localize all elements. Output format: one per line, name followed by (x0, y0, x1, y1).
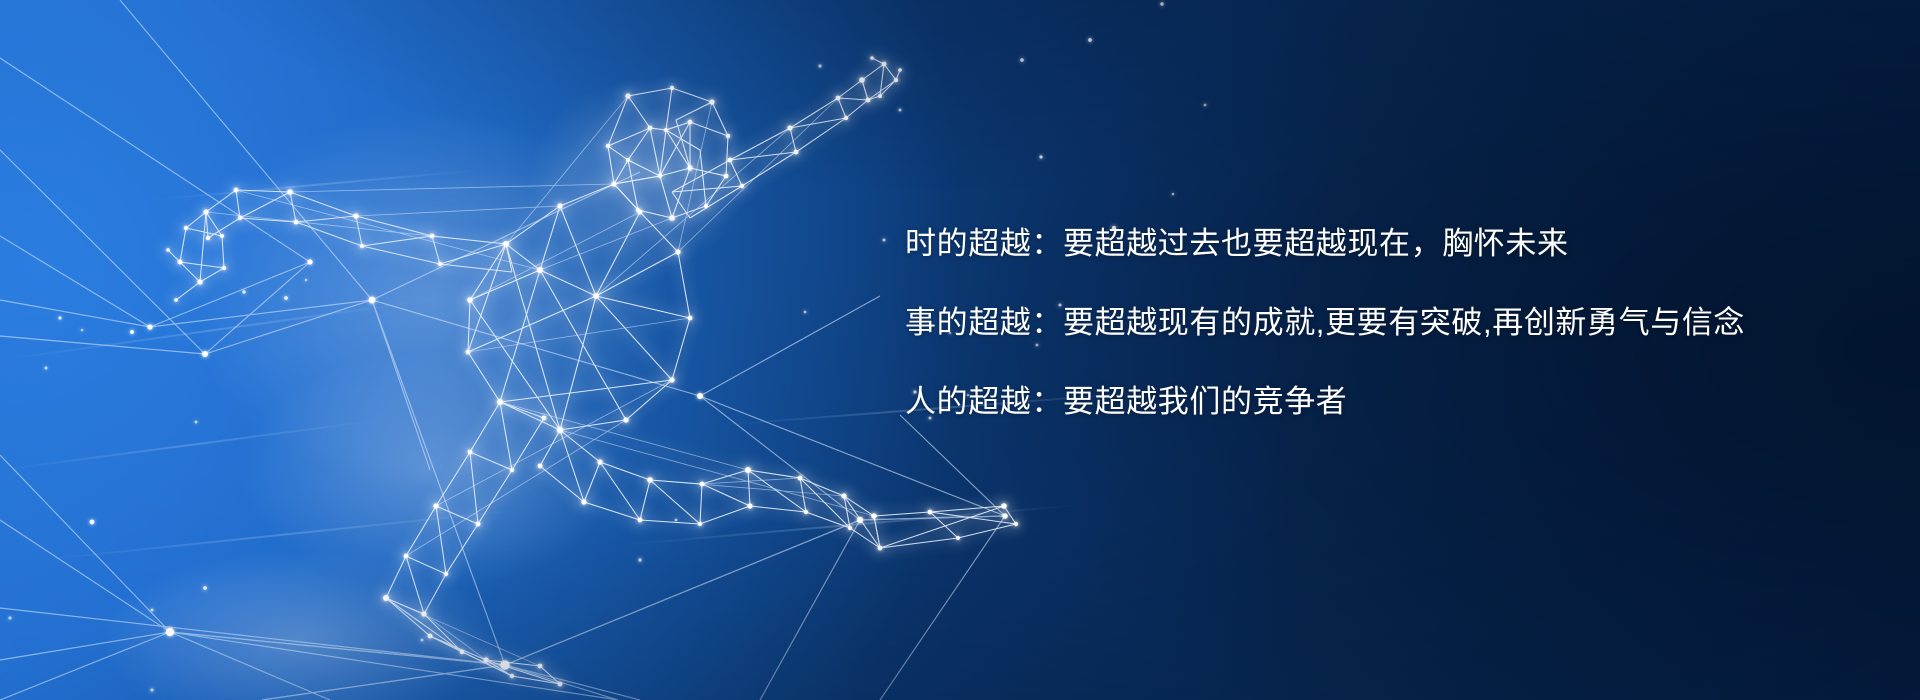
hero-banner: 时的超越：要超越过去也要超越现在，胸怀未来 事的超越：要超越现有的成就,更要有突… (0, 0, 1920, 700)
slogan-line-people: 人的超越：要超越我们的竞争者 (905, 386, 1805, 417)
slogan-line-matter: 事的超越：要超越现有的成就,更要有突破,再创新勇气与信念 (905, 307, 1805, 338)
slogan-line-time: 时的超越：要超越过去也要超越现在，胸怀未来 (905, 228, 1805, 259)
slogan-block: 时的超越：要超越过去也要超越现在，胸怀未来 事的超越：要超越现有的成就,更要有突… (905, 228, 1805, 417)
